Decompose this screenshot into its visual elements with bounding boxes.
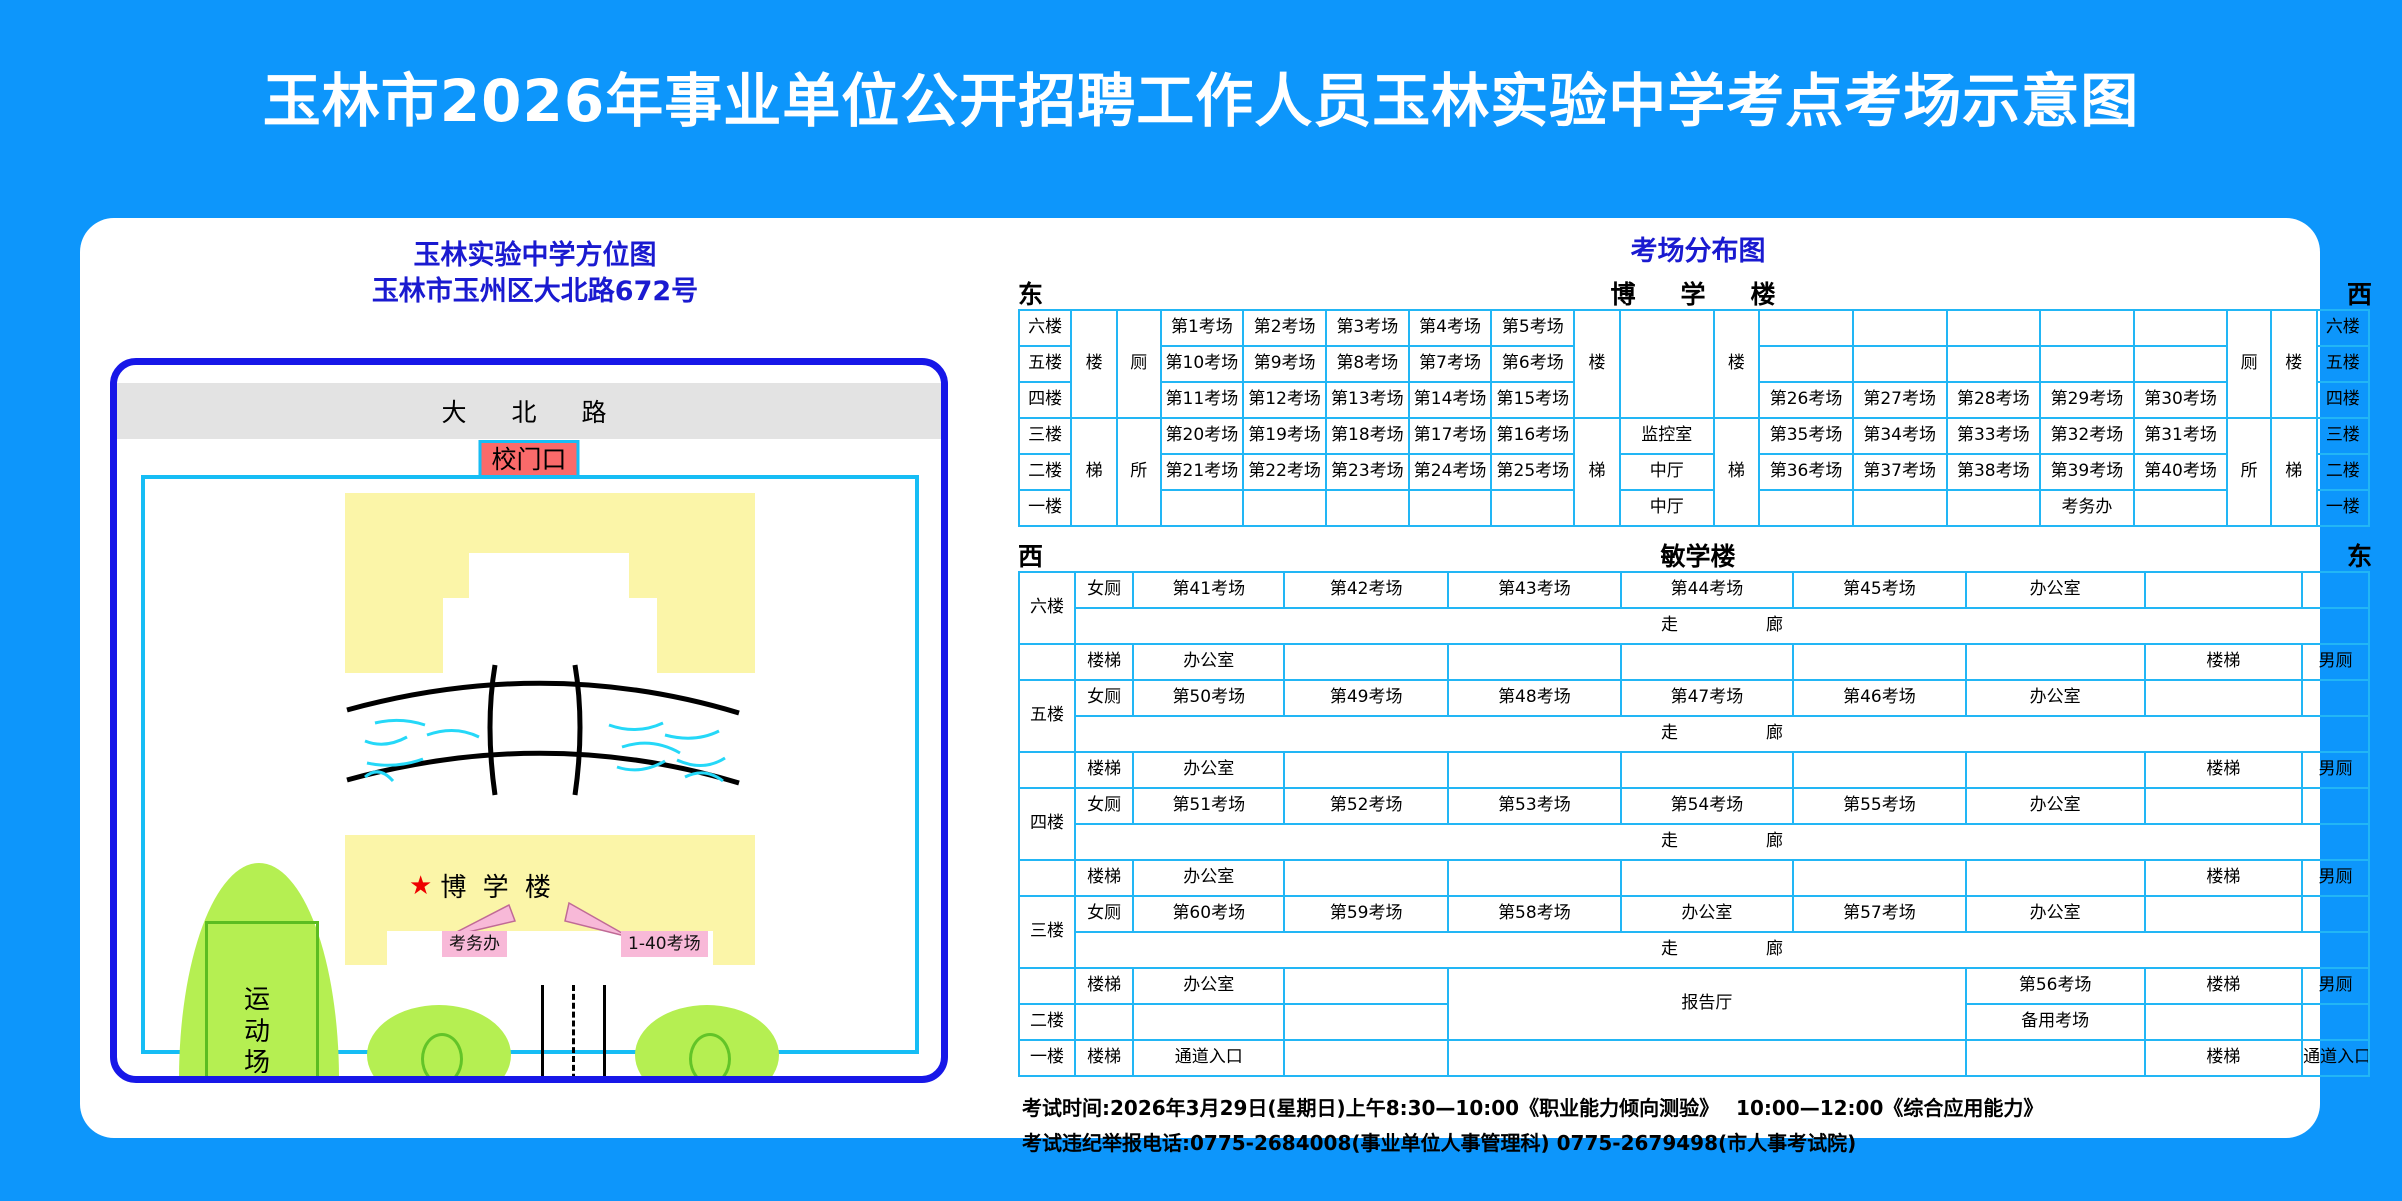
boxue-dir-right: 西 — [2347, 275, 2372, 311]
boxue-roomR-3-2: 第33考场 — [1947, 418, 2041, 454]
table-row: 四楼 女厕 第51考场 第52考场 第53考场 第54考场 第55考场 办公室 — [1019, 788, 2369, 824]
table-row: 六楼 女厕 第41考场 第42考场 第43考场 第44考场 第45考场 办公室 — [1019, 572, 2369, 608]
minxue-building-name: 敏学楼 — [1018, 537, 2378, 573]
minxue-room-3-1: 第59考场 — [1284, 896, 1448, 932]
minxue-blank-2-b — [1133, 1004, 1284, 1040]
boxue-stair-mid-right-bot: 梯 — [1714, 418, 1760, 526]
page-title: 玉林市2026年事业单位公开招聘工作人员玉林实验中学考点考场示意图 — [0, 72, 2402, 130]
boxue-toilet-left-bot: 所 — [1117, 418, 1161, 526]
minxue-corridor-5-b: 廊 — [1766, 724, 1783, 744]
table-row: 楼梯 办公室 楼梯 男厕 — [1019, 644, 2369, 680]
minxue-stair-5: 楼梯 — [1075, 752, 1133, 788]
minxue-room-6-4: 第45考场 — [1793, 572, 1966, 608]
minxue-entrance-right: 通道入口 — [2302, 1040, 2369, 1076]
boxue-floor-right-3: 三楼 — [2317, 418, 2369, 454]
map-canvas: 大 北 路 校门口 — [117, 365, 941, 1076]
boxue-floor-right-0: 六楼 — [2317, 310, 2369, 346]
boxue-monitor-room: 监控室 — [1620, 418, 1714, 454]
boxue-room-2-2: 第13考场 — [1326, 382, 1409, 418]
path-line-left — [541, 985, 544, 1083]
boxue-direction-row: 东 博 学 楼 西 — [1018, 275, 2378, 309]
minxue-mens-3: 男厕 — [2302, 968, 2369, 1004]
boxue-roomR-0-1 — [1853, 310, 1947, 346]
boxue-room-2-4: 第15考场 — [1491, 382, 1574, 418]
minxue-blank-6-g — [1966, 644, 2145, 680]
minxue-corridor-4: 走 廊 — [1075, 824, 2369, 860]
footer-notes: 考试时间:2026年3月29日(星期日)上午8:30—10:00《职业能力倾向测… — [1018, 1091, 2378, 1161]
boxue-room-0-0: 第1考场 — [1161, 310, 1244, 346]
table-row: 一楼 中厅 考务办 一楼 — [1019, 490, 2369, 526]
boxue-roomR-0-4 — [2134, 310, 2228, 346]
minxue-blank-4-f — [1793, 860, 1966, 896]
minxue-room-3-2: 第58考场 — [1448, 896, 1621, 932]
minxue-spacer-6 — [1019, 644, 1075, 680]
boxue-roomR-4-2: 第38考场 — [1947, 454, 2041, 490]
path-line-right — [603, 985, 606, 1083]
boxue-floor-left-4: 二楼 — [1019, 454, 1071, 490]
school-gate-label: 校门口 — [478, 440, 579, 479]
minxue-blank-5-g — [1966, 752, 2145, 788]
boxue-roomR-0-3 — [2040, 310, 2134, 346]
boxue-roomR-3-4: 第31考场 — [2134, 418, 2228, 454]
minxue-floor-2: 二楼 — [1019, 1004, 1075, 1040]
exam-distribution-title: 考场分布图 — [1018, 238, 2378, 265]
boxue-room-4-2: 第23考场 — [1326, 454, 1409, 490]
building-north-mid-l — [393, 493, 469, 598]
minxue-blank-3-b — [2302, 896, 2369, 932]
minxue-stair-r-6: 楼梯 — [2145, 644, 2302, 680]
boxue-room-4-3: 第24考场 — [1409, 454, 1492, 490]
minxue-blank-3-c — [1284, 968, 1448, 1004]
minxue-entrance-left: 通道入口 — [1133, 1040, 1284, 1076]
boxue-center-hall-2: 中厅 — [1620, 490, 1714, 526]
minxue-room-5-1: 第49考场 — [1284, 680, 1448, 716]
boxue-floor-right-5: 一楼 — [2317, 490, 2369, 526]
boxue-room-0-3: 第4考场 — [1409, 310, 1492, 346]
minxue-blank-1-a — [1284, 1040, 1448, 1076]
boxue-room-5-1 — [1243, 490, 1326, 526]
boxue-roomR-5-2 — [1947, 490, 2041, 526]
minxue-stair-r-1: 楼梯 — [2145, 1040, 2302, 1076]
boxue-floor-left-2: 四楼 — [1019, 382, 1071, 418]
minxue-stair-3: 楼梯 — [1075, 968, 1133, 1004]
minxue-lecture-hall: 报告厅 — [1448, 968, 1966, 1040]
table-row: 二楼 第21考场 第22考场 第23考场 第24考场 第25考场 中厅 第36考… — [1019, 454, 2369, 490]
building-boxue-name: ★ 博 学 楼 — [409, 867, 555, 904]
minxue-office2-4: 办公室 — [1133, 860, 1284, 896]
boxue-roomR-4-0: 第36考场 — [1759, 454, 1853, 490]
minxue-blank-5-e — [1621, 752, 1794, 788]
boxue-room-1-0: 第10考场 — [1161, 346, 1244, 382]
minxue-blank-1-c — [1966, 1040, 2145, 1076]
boxue-roomR-2-3: 第29考场 — [2040, 382, 2134, 418]
minxue-room-4-2: 第53考场 — [1448, 788, 1621, 824]
lawn-left-ring — [421, 1033, 463, 1083]
minxue-room-6-1: 第42考场 — [1284, 572, 1448, 608]
boxue-toilet-left-top: 厕 — [1117, 310, 1161, 418]
boxue-roomR-0-0 — [1759, 310, 1853, 346]
boxue-floor-left-3: 三楼 — [1019, 418, 1071, 454]
boxue-stair-far-right-top: 楼 — [2271, 310, 2317, 418]
boxue-roomR-1-3 — [2040, 346, 2134, 382]
table-row: 走 廊 — [1019, 932, 2369, 968]
minxue-dir-right: 东 — [2347, 537, 2372, 573]
minxue-floor-6: 六楼 — [1019, 572, 1075, 644]
minxue-blank-5-c — [1284, 752, 1448, 788]
minxue-room-3-4: 第57考场 — [1793, 896, 1966, 932]
boxue-floor-right-2: 四楼 — [2317, 382, 2369, 418]
footer-report-phone: 考试违纪举报电话:0775-2684008(事业单位人事管理科) 0775-26… — [1022, 1126, 2378, 1161]
boxue-roomR-1-0 — [1759, 346, 1853, 382]
minxue-blank-5-f — [1793, 752, 1966, 788]
minxue-stair-6: 楼梯 — [1075, 644, 1133, 680]
boxue-stair-mid-left-bot: 梯 — [1574, 418, 1620, 526]
minxue-office2-5: 办公室 — [1133, 752, 1284, 788]
minxue-office-5: 办公室 — [1966, 680, 2145, 716]
boxue-room-5-3 — [1409, 490, 1492, 526]
label-rooms-1-40: 1-40考场 — [621, 931, 708, 957]
minxue-spare-room: 备用考场 — [1966, 1004, 2145, 1040]
boxue-stair-mid-left-top: 楼 — [1574, 310, 1620, 418]
boxue-stair-mid-right-top: 楼 — [1714, 310, 1760, 418]
boxue-roomR-4-3: 第39考场 — [2040, 454, 2134, 490]
table-row: 走 廊 — [1019, 824, 2369, 860]
map-section-title: 玉林实验中学方位图 玉林市玉州区大北路672号 — [100, 238, 970, 309]
minxue-womens-3: 女厕 — [1075, 896, 1133, 932]
boxue-toilet-right-top: 厕 — [2227, 310, 2271, 418]
minxue-stair-r-5: 楼梯 — [2145, 752, 2302, 788]
minxue-blank-4-b — [2302, 788, 2369, 824]
table-row: 走 廊 — [1019, 608, 2369, 644]
table-row: 楼梯 办公室 楼梯 男厕 — [1019, 752, 2369, 788]
minxue-blank-2-c — [1284, 1004, 1448, 1040]
boxue-table: 六楼 楼 厕 第1考场 第2考场 第3考场 第4考场 第5考场 楼 楼 — [1018, 309, 2370, 527]
minxue-blank-4-c — [1284, 860, 1448, 896]
minxue-blank-6-b — [2302, 572, 2369, 608]
boxue-roomR-2-2: 第28考场 — [1947, 382, 2041, 418]
table-row: 三楼 女厕 第60考场 第59考场 第58考场 办公室 第57考场 办公室 — [1019, 896, 2369, 932]
minxue-spacer-4 — [1019, 860, 1075, 896]
minxue-blank-4-d — [1448, 860, 1621, 896]
minxue-blank-6-c — [1284, 644, 1448, 680]
minxue-blank-4-a — [2145, 788, 2302, 824]
lawn-right-ring — [689, 1033, 731, 1083]
road-label-wrap: 大 北 路 — [117, 393, 941, 429]
minxue-spacer-5 — [1019, 752, 1075, 788]
minxue-blank-6-e — [1621, 644, 1794, 680]
boxue-floor-left-0: 六楼 — [1019, 310, 1071, 346]
boxue-room-4-4: 第25考场 — [1491, 454, 1574, 490]
boxue-room-0-2: 第3考场 — [1326, 310, 1409, 346]
boxue-room-4-0: 第21考场 — [1161, 454, 1244, 490]
table-row: 走 廊 — [1019, 716, 2369, 752]
label-kaowuban: 考务办 — [442, 931, 507, 957]
minxue-spacer-3 — [1019, 968, 1075, 1004]
minxue-room-4-3: 第54考场 — [1621, 788, 1794, 824]
boxue-roomR-4-1: 第37考场 — [1853, 454, 1947, 490]
boxue-label: 博 学 楼 — [440, 867, 555, 904]
minxue-corridor-6: 走 廊 — [1075, 608, 2369, 644]
minxue-corridor-3-a: 走 — [1661, 940, 1678, 960]
minxue-blank-6-a — [2145, 572, 2302, 608]
minxue-blank-2-a — [1075, 1004, 1133, 1040]
minxue-blank-5-b — [2302, 680, 2369, 716]
boxue-mid-blank — [1620, 310, 1714, 418]
school-map-section: 玉林实验中学方位图 玉林市玉州区大北路672号 大 北 路 校门口 — [100, 230, 970, 1120]
minxue-blank-4-g — [1966, 860, 2145, 896]
boxue-roomR-5-3: 考务办 — [2040, 490, 2134, 526]
playground-label: 运动场 — [235, 985, 279, 1080]
minxue-room-3-0: 第60考场 — [1133, 896, 1284, 932]
minxue-corridor-5: 走 廊 — [1075, 716, 2369, 752]
minxue-womens-6: 女厕 — [1075, 572, 1133, 608]
star-icon-boxue: ★ — [409, 873, 436, 899]
building-boxue-wing-r — [713, 835, 755, 965]
minxue-blank-3-a — [2145, 896, 2302, 932]
exam-room-section: 考场分布图 东 博 学 楼 西 六楼 楼 厕 — [1018, 230, 2378, 1130]
minxue-room-5-0: 第50考场 — [1133, 680, 1284, 716]
minxue-stair-4: 楼梯 — [1075, 860, 1133, 896]
table-row: 一楼 楼梯 通道入口 楼梯 通道入口 — [1019, 1040, 2369, 1076]
poster-root: 玉林市2026年事业单位公开招聘工作人员玉林实验中学考点考场示意图 玉林实验中学… — [0, 0, 2402, 1201]
minxue-mens-4: 男厕 — [2302, 860, 2369, 896]
minxue-stair-r-4: 楼梯 — [2145, 860, 2302, 896]
boxue-roomR-1-4 — [2134, 346, 2228, 382]
table-row: 六楼 楼 厕 第1考场 第2考场 第3考场 第4考场 第5考场 楼 楼 — [1019, 310, 2369, 346]
boxue-stair-left-bot: 梯 — [1071, 418, 1117, 526]
boxue-building-name: 博 学 楼 — [1018, 275, 2378, 311]
minxue-floor-5: 五楼 — [1019, 680, 1075, 752]
boxue-roomR-5-4 — [2134, 490, 2228, 526]
minxue-room-4-4: 第55考场 — [1793, 788, 1966, 824]
boxue-center-hall-1: 中厅 — [1620, 454, 1714, 490]
minxue-room-4-0: 第51考场 — [1133, 788, 1284, 824]
boxue-room-3-0: 第20考场 — [1161, 418, 1244, 454]
map-frame: 大 北 路 校门口 — [110, 358, 948, 1083]
boxue-room-3-3: 第17考场 — [1409, 418, 1492, 454]
minxue-room-6-0: 第41考场 — [1133, 572, 1284, 608]
minxue-blank-5-d — [1448, 752, 1621, 788]
minxue-mens-5: 男厕 — [2302, 752, 2369, 788]
minxue-blank-1-b — [1448, 1040, 1966, 1076]
boxue-room-3-4: 第16考场 — [1491, 418, 1574, 454]
building-north-mid-r — [629, 493, 705, 598]
minxue-corridor-4-a: 走 — [1661, 832, 1678, 852]
minxue-blank-4-e — [1621, 860, 1794, 896]
minxue-room-6-2: 第43考场 — [1448, 572, 1621, 608]
boxue-room-1-1: 第9考场 — [1243, 346, 1326, 382]
boxue-roomR-4-4: 第40考场 — [2134, 454, 2228, 490]
boxue-roomR-0-2 — [1947, 310, 2041, 346]
minxue-room-4-1: 第52考场 — [1284, 788, 1448, 824]
minxue-office-4: 办公室 — [1966, 788, 2145, 824]
boxue-stair-far-right-bot: 梯 — [2271, 418, 2317, 526]
boxue-floor-right-1: 五楼 — [2317, 346, 2369, 382]
boxue-toilet-right-bot: 所 — [2227, 418, 2271, 526]
minxue-mens-6: 男厕 — [2302, 644, 2369, 680]
minxue-corridor-4-b: 廊 — [1766, 832, 1783, 852]
boxue-roomR-5-0 — [1759, 490, 1853, 526]
minxue-floor-3: 三楼 — [1019, 896, 1075, 968]
map-title-line2: 玉林市玉州区大北路672号 — [100, 274, 970, 310]
boxue-room-2-0: 第11考场 — [1161, 382, 1244, 418]
minxue-blank-2-e — [2302, 1004, 2369, 1040]
boxue-room-2-3: 第14考场 — [1409, 382, 1492, 418]
boxue-room-2-1: 第12考场 — [1243, 382, 1326, 418]
boxue-roomR-1-1 — [1853, 346, 1947, 382]
table-row: 楼梯 办公室 楼梯 男厕 — [1019, 860, 2369, 896]
minxue-blank-6-f — [1793, 644, 1966, 680]
minxue-room-5-3: 第47考场 — [1621, 680, 1794, 716]
boxue-floor-left-1: 五楼 — [1019, 346, 1071, 382]
boxue-roomR-5-1 — [1853, 490, 1947, 526]
minxue-blank-5-a — [2145, 680, 2302, 716]
minxue-office2-3: 办公室 — [1133, 968, 1284, 1004]
boxue-roomR-3-3: 第32考场 — [2040, 418, 2134, 454]
minxue-stair-1: 楼梯 — [1075, 1040, 1133, 1076]
minxue-room-56: 第56考场 — [1966, 968, 2145, 1004]
minxue-stair-r-3: 楼梯 — [2145, 968, 2302, 1004]
boxue-room-5-4 — [1491, 490, 1574, 526]
boxue-room-3-2: 第18考场 — [1326, 418, 1409, 454]
building-boxue-wing-l — [345, 835, 387, 965]
minxue-room-5-2: 第48考场 — [1448, 680, 1621, 716]
minxue-corridor-3-b: 廊 — [1766, 940, 1783, 960]
boxue-room-1-4: 第6考场 — [1491, 346, 1574, 382]
boxue-room-0-1: 第2考场 — [1243, 310, 1326, 346]
boxue-roomR-3-0: 第35考场 — [1759, 418, 1853, 454]
boxue-stair-left-top: 楼 — [1071, 310, 1117, 418]
boxue-roomR-2-4: 第30考场 — [2134, 382, 2228, 418]
map-title-line1: 玉林实验中学方位图 — [100, 238, 970, 274]
minxue-direction-row: 西 敏学楼 东 — [1018, 537, 2378, 571]
boxue-room-4-1: 第22考场 — [1243, 454, 1326, 490]
table-row: 五楼 女厕 第50考场 第49考场 第48考场 第47考场 第46考场 办公室 — [1019, 680, 2369, 716]
minxue-office-6: 办公室 — [1966, 572, 2145, 608]
boxue-room-1-2: 第8考场 — [1326, 346, 1409, 382]
boxue-roomR-3-1: 第34考场 — [1853, 418, 1947, 454]
minxue-blank-2-d — [2145, 1004, 2302, 1040]
minxue-room-6-3: 第44考场 — [1621, 572, 1794, 608]
minxue-blank-6-d — [1448, 644, 1621, 680]
table-row: 三楼 梯 所 第20考场 第19考场 第18考场 第17考场 第16考场 梯 监… — [1019, 418, 2369, 454]
boxue-room-5-2 — [1326, 490, 1409, 526]
minxue-office-3: 办公室 — [1966, 896, 2145, 932]
boxue-room-0-4: 第5考场 — [1491, 310, 1574, 346]
minxue-corridor-6-a: 走 — [1661, 616, 1678, 636]
minxue-room-5-4: 第46考场 — [1793, 680, 1966, 716]
minxue-womens-4: 女厕 — [1075, 788, 1133, 824]
minxue-office2-6: 办公室 — [1133, 644, 1284, 680]
minxue-floor-4: 四楼 — [1019, 788, 1075, 860]
boxue-floor-right-4: 二楼 — [2317, 454, 2369, 490]
boxue-roomR-2-0: 第26考场 — [1759, 382, 1853, 418]
path-line-center — [572, 985, 575, 1083]
minxue-corridor-5-a: 走 — [1661, 724, 1678, 744]
minxue-floor-1: 一楼 — [1019, 1040, 1075, 1076]
minxue-corridor-6-b: 廊 — [1766, 616, 1783, 636]
minxue-womens-5: 女厕 — [1075, 680, 1133, 716]
boxue-room-5-0 — [1161, 490, 1244, 526]
table-row: 楼梯 办公室 报告厅 第56考场 楼梯 男厕 — [1019, 968, 2369, 1004]
boxue-floor-left-5: 一楼 — [1019, 490, 1071, 526]
boxue-room-3-1: 第19考场 — [1243, 418, 1326, 454]
road-label: 大 北 路 — [425, 393, 632, 429]
minxue-table: 六楼 女厕 第41考场 第42考场 第43考场 第44考场 第45考场 办公室 … — [1018, 571, 2370, 1077]
boxue-roomR-2-1: 第27考场 — [1853, 382, 1947, 418]
footer-exam-time: 考试时间:2026年3月29日(星期日)上午8:30—10:00《职业能力倾向测… — [1022, 1091, 2378, 1126]
minxue-room-3-3: 办公室 — [1621, 896, 1794, 932]
minxue-corridor-3: 走 廊 — [1075, 932, 2369, 968]
boxue-roomR-1-2 — [1947, 346, 2041, 382]
boxue-room-1-3: 第7考场 — [1409, 346, 1492, 382]
